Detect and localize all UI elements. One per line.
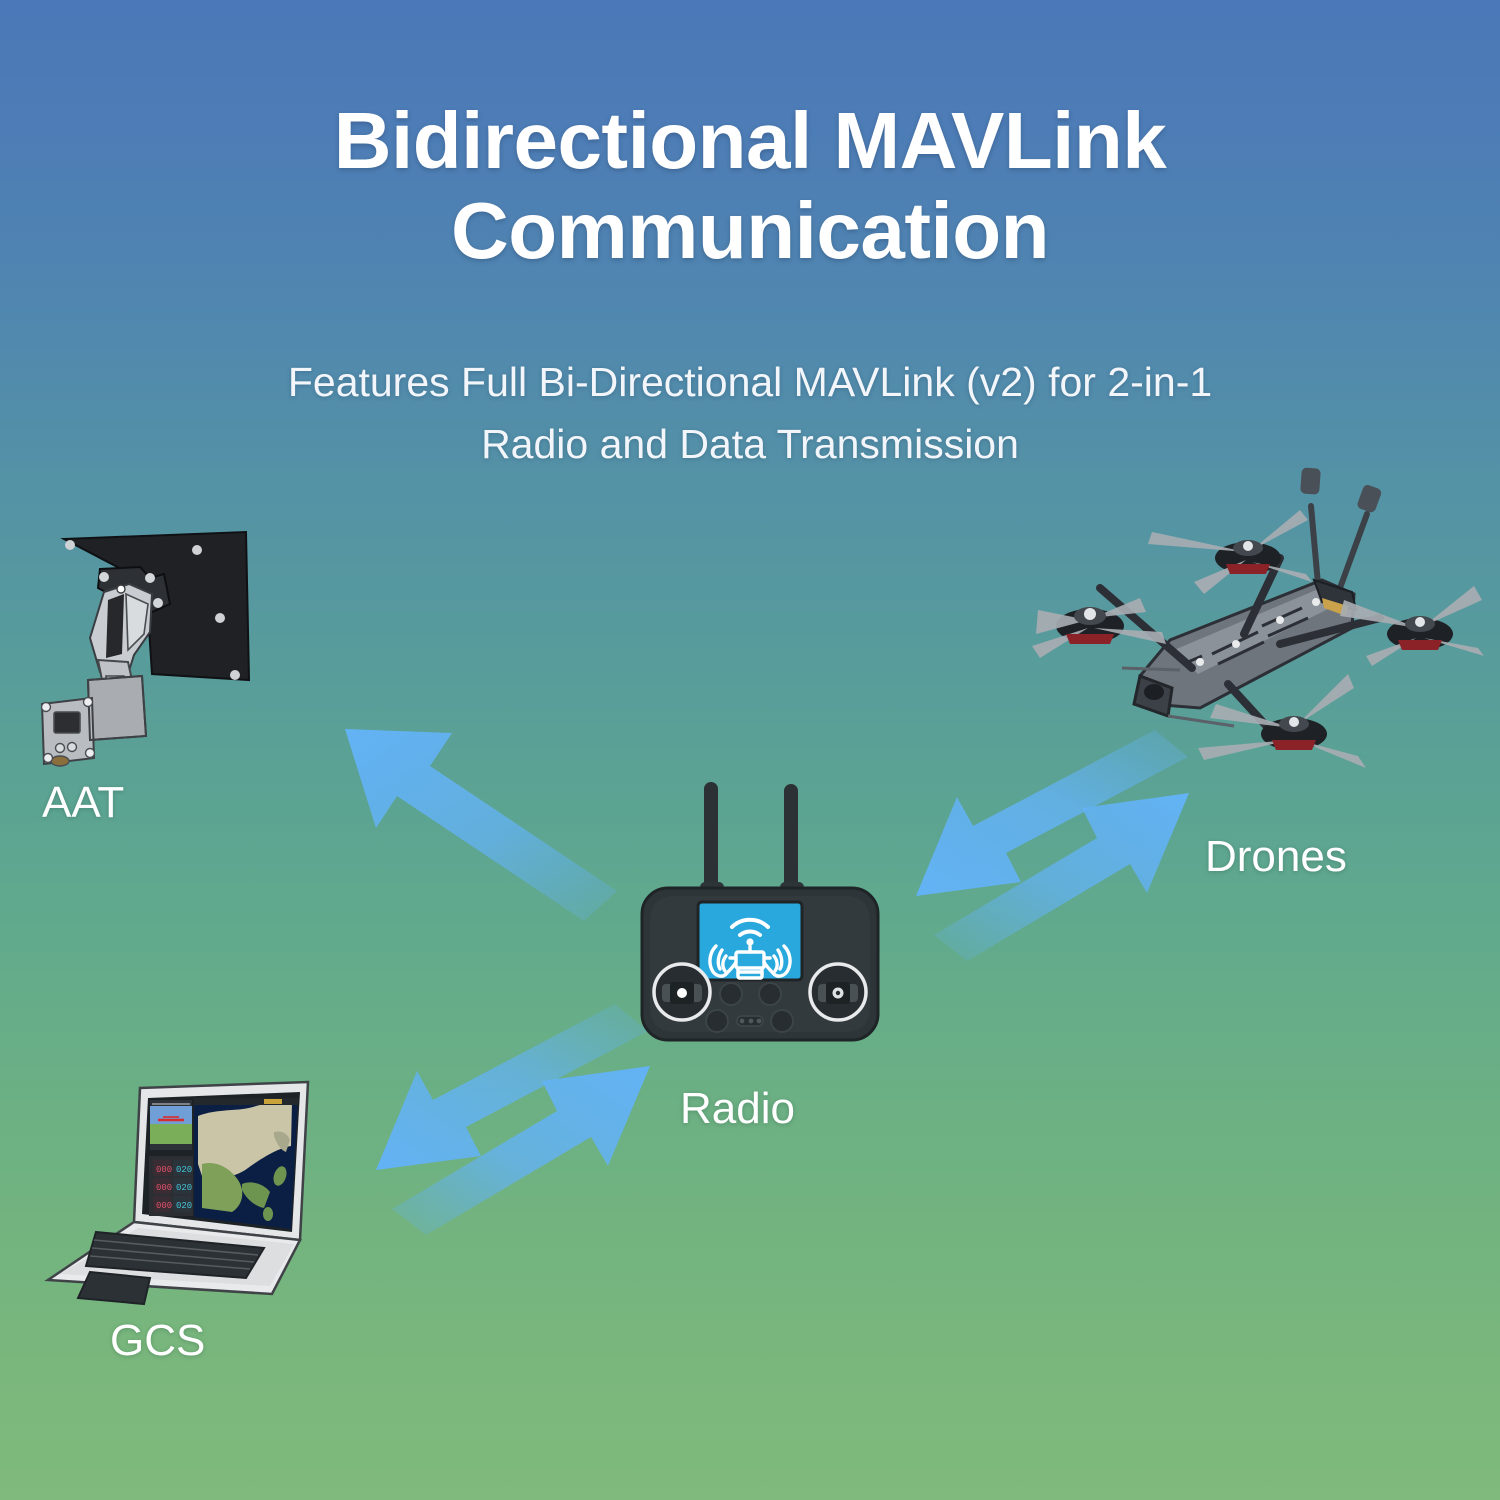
aat-controller-box — [42, 676, 147, 766]
svg-text:020: 020 — [176, 1201, 192, 1211]
node-label-gcs: GCS — [110, 1316, 205, 1366]
svg-text:000: 000 — [156, 1183, 172, 1193]
radio-gimbal-right[interactable] — [810, 964, 866, 1020]
radio-gimbal-left[interactable] — [654, 964, 710, 1020]
laptop-lid: 000 020 000 020 000 020 — [134, 1082, 308, 1240]
quadcopter-drone-icon — [1022, 458, 1484, 788]
svg-text:020: 020 — [176, 1183, 192, 1193]
drone-motor-front-right — [1148, 510, 1312, 594]
gcs-satellite-map — [194, 1098, 298, 1229]
svg-text:000: 000 — [156, 1201, 172, 1211]
gcs-hud-panel — [150, 1100, 192, 1150]
infographic-canvas: Bidirectional MAVLink Communication Feat… — [0, 0, 1500, 1500]
node-label-aat: AAT — [42, 778, 124, 828]
antenna-tracker-icon — [28, 508, 298, 783]
arrow-radio-to-aat — [345, 729, 617, 921]
drone-antennas — [1300, 467, 1382, 588]
radio-screen — [698, 902, 802, 980]
svg-text:000: 000 — [156, 1165, 172, 1175]
aat-flat-panel-antenna — [64, 532, 249, 680]
node-label-radio: Radio — [680, 1084, 795, 1134]
radio-antennas — [700, 782, 804, 902]
radio-controller-icon — [620, 760, 900, 1080]
svg-text:020: 020 — [176, 1165, 192, 1175]
laptop-ground-station-icon: 000 020 000 020 000 020 — [32, 1072, 332, 1312]
node-label-drones: Drones — [1205, 832, 1347, 882]
aat-pan-tilt-gimbal — [90, 584, 152, 690]
gcs-telemetry-gauges: 000 020 000 020 000 020 — [149, 1156, 193, 1216]
